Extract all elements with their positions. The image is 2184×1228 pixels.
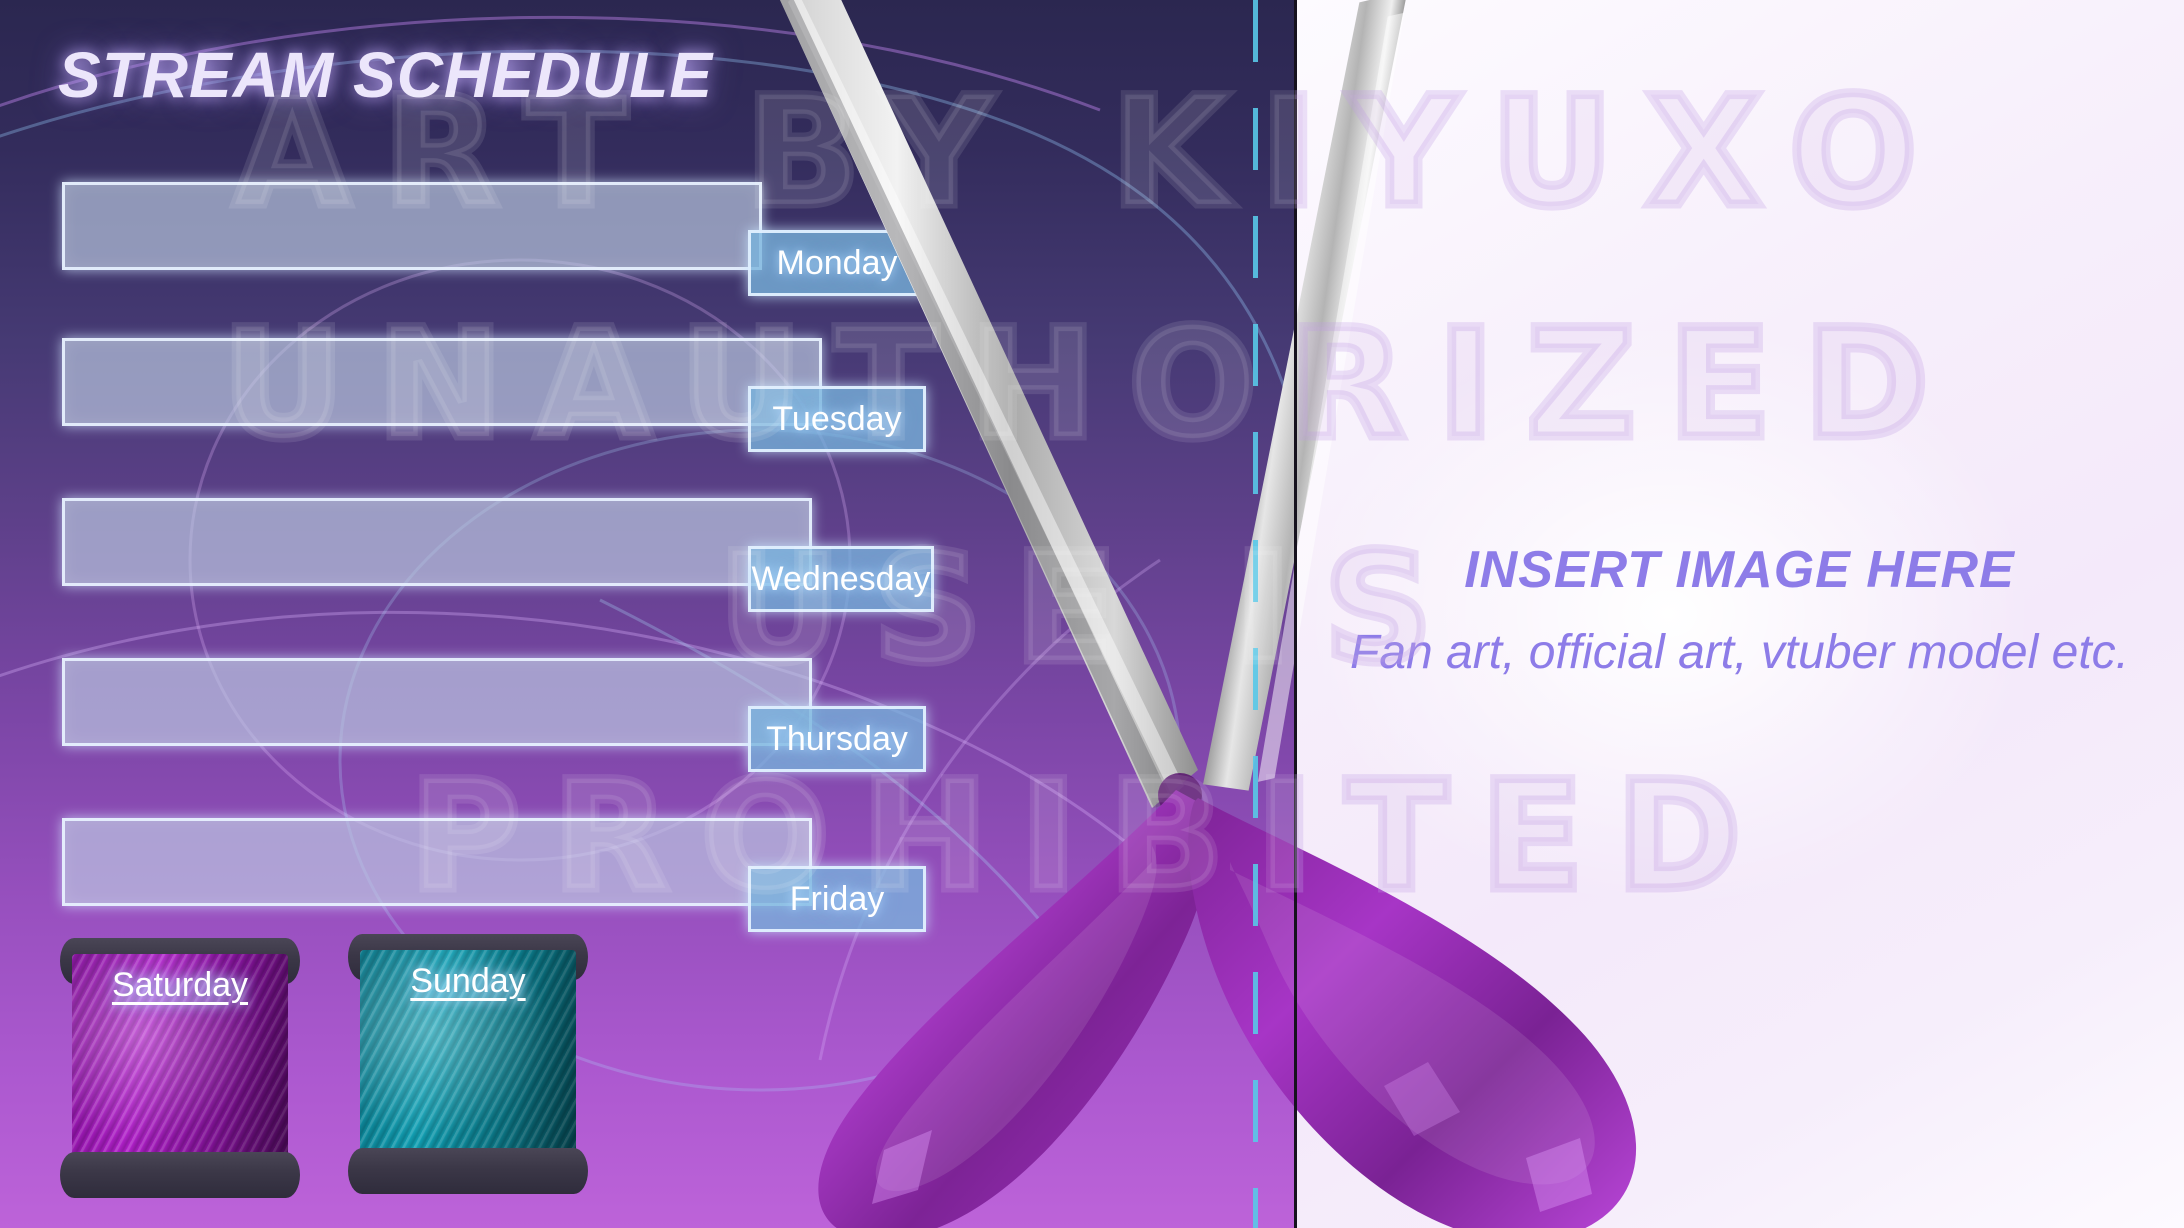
day-label-sunday[interactable]: Sunday (348, 962, 588, 1001)
schedule-bar-thursday[interactable] (62, 658, 812, 746)
thread-spool-saturday[interactable]: Saturday (60, 920, 300, 1200)
panel-divider (1294, 0, 1297, 1228)
thread-spool-sunday[interactable]: Sunday (348, 916, 588, 1196)
day-label-saturday[interactable]: Saturday (60, 966, 300, 1005)
schedule-bar-friday[interactable] (62, 818, 812, 906)
spool-cap-bottom-icon (60, 1152, 300, 1198)
page-title: STREAM SCHEDULE (58, 38, 713, 112)
scissors-icon (780, 0, 1780, 1228)
dashed-cut-line-icon (1253, 0, 1258, 1228)
schedule-bar-tuesday[interactable] (62, 338, 822, 426)
stream-schedule-template: STREAM SCHEDULE Monday Tuesday Wednesday… (0, 0, 2184, 1228)
spool-cap-bottom-icon (348, 1148, 588, 1194)
schedule-bar-monday[interactable] (62, 182, 762, 270)
schedule-bar-wednesday[interactable] (62, 498, 812, 586)
